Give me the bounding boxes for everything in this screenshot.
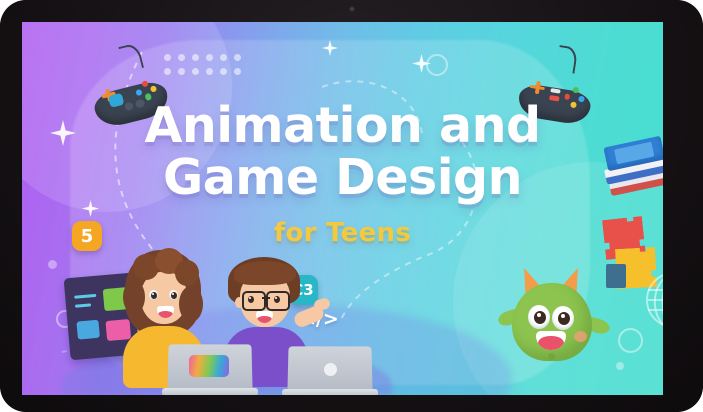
laptop-left: [162, 344, 258, 395]
girl-curl: [123, 280, 145, 314]
monster-blush: [574, 331, 587, 342]
boy-pointing-finger: [313, 297, 332, 312]
monster-pupil-left: [534, 311, 546, 324]
boy-pupil-left: [248, 296, 254, 303]
title-block: Animation and Game Design for Teens: [22, 100, 663, 248]
boy-pupil-right: [274, 296, 280, 303]
girl-curl: [179, 286, 203, 322]
girl-pupil-right: [171, 292, 177, 299]
webcam-dot: [349, 6, 355, 12]
decor-dot: [48, 260, 57, 269]
laptop-left-base: [162, 388, 258, 395]
laptop-right-base: [282, 389, 378, 395]
girl-pupil-left: [151, 292, 157, 299]
puzzle-piece-blue-icon: [606, 264, 626, 288]
laptop-right-logo-icon: [324, 363, 337, 376]
monster-mouth: [536, 331, 566, 350]
girl-mouth: [157, 306, 174, 318]
decor-ring: [426, 54, 448, 76]
decor-ring: [618, 328, 643, 353]
title-line-2: Game Design: [22, 152, 663, 204]
boy-hair-sweep: [234, 261, 296, 285]
dot-grid-pattern: [164, 54, 248, 82]
monster-tongue: [538, 336, 563, 350]
monitor-screen: Animation and Game Design for Teens 5 C3…: [22, 22, 663, 395]
html5-badge-icon: 5: [72, 221, 102, 251]
boy-tongue: [257, 316, 271, 323]
girl-curl: [175, 260, 199, 286]
monster-green-icon: [502, 265, 604, 363]
monster-spot: [548, 353, 555, 360]
boy-mouth: [256, 311, 273, 323]
title-line-1: Animation and: [22, 100, 663, 152]
subtitle: for Teens: [22, 218, 663, 248]
girl-tongue: [158, 311, 172, 318]
html5-badge-label: 5: [81, 226, 94, 247]
decor-dot: [616, 362, 624, 370]
monster-pupil-right: [558, 312, 570, 325]
laptop-right: [282, 346, 378, 395]
monitor-device: Animation and Game Design for Teens 5 C3…: [0, 0, 703, 412]
laptop-left-sticker-icon: [189, 355, 229, 377]
